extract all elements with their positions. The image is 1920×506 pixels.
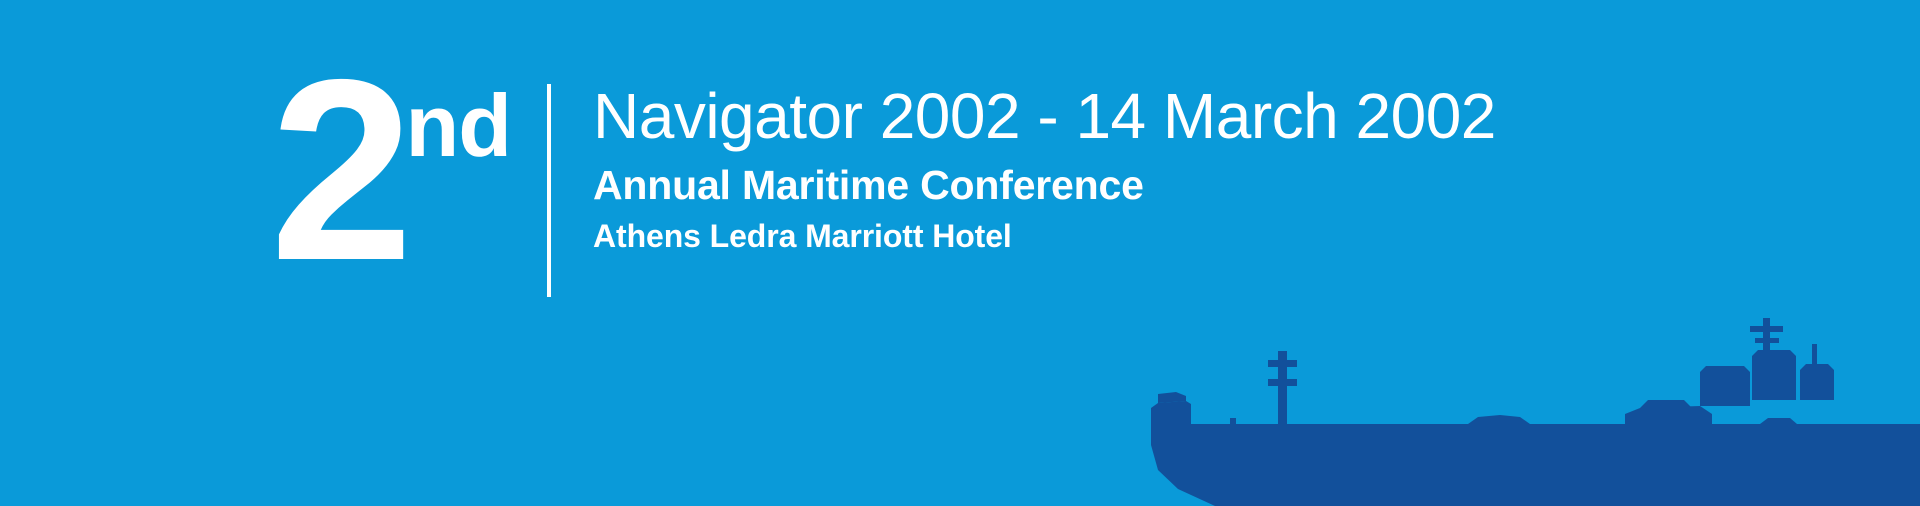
vertical-divider <box>547 84 551 297</box>
ordinal-edition: 2 nd <box>270 62 511 279</box>
conference-name: Annual Maritime Conference <box>593 163 1496 209</box>
venue-name: Athens Ledra Marriott Hotel <box>593 219 1496 255</box>
ordinal-number: 2 <box>270 62 404 279</box>
banner-lockup: 2 nd Navigator 2002 - 14 March 2002 Annu… <box>270 62 1496 297</box>
banner-text-block: Navigator 2002 - 14 March 2002 Annual Ma… <box>593 62 1496 255</box>
event-headline: Navigator 2002 - 14 March 2002 <box>593 82 1496 151</box>
ordinal-suffix: nd <box>406 82 512 170</box>
conference-banner: 2 nd Navigator 2002 - 14 March 2002 Annu… <box>0 0 1920 506</box>
